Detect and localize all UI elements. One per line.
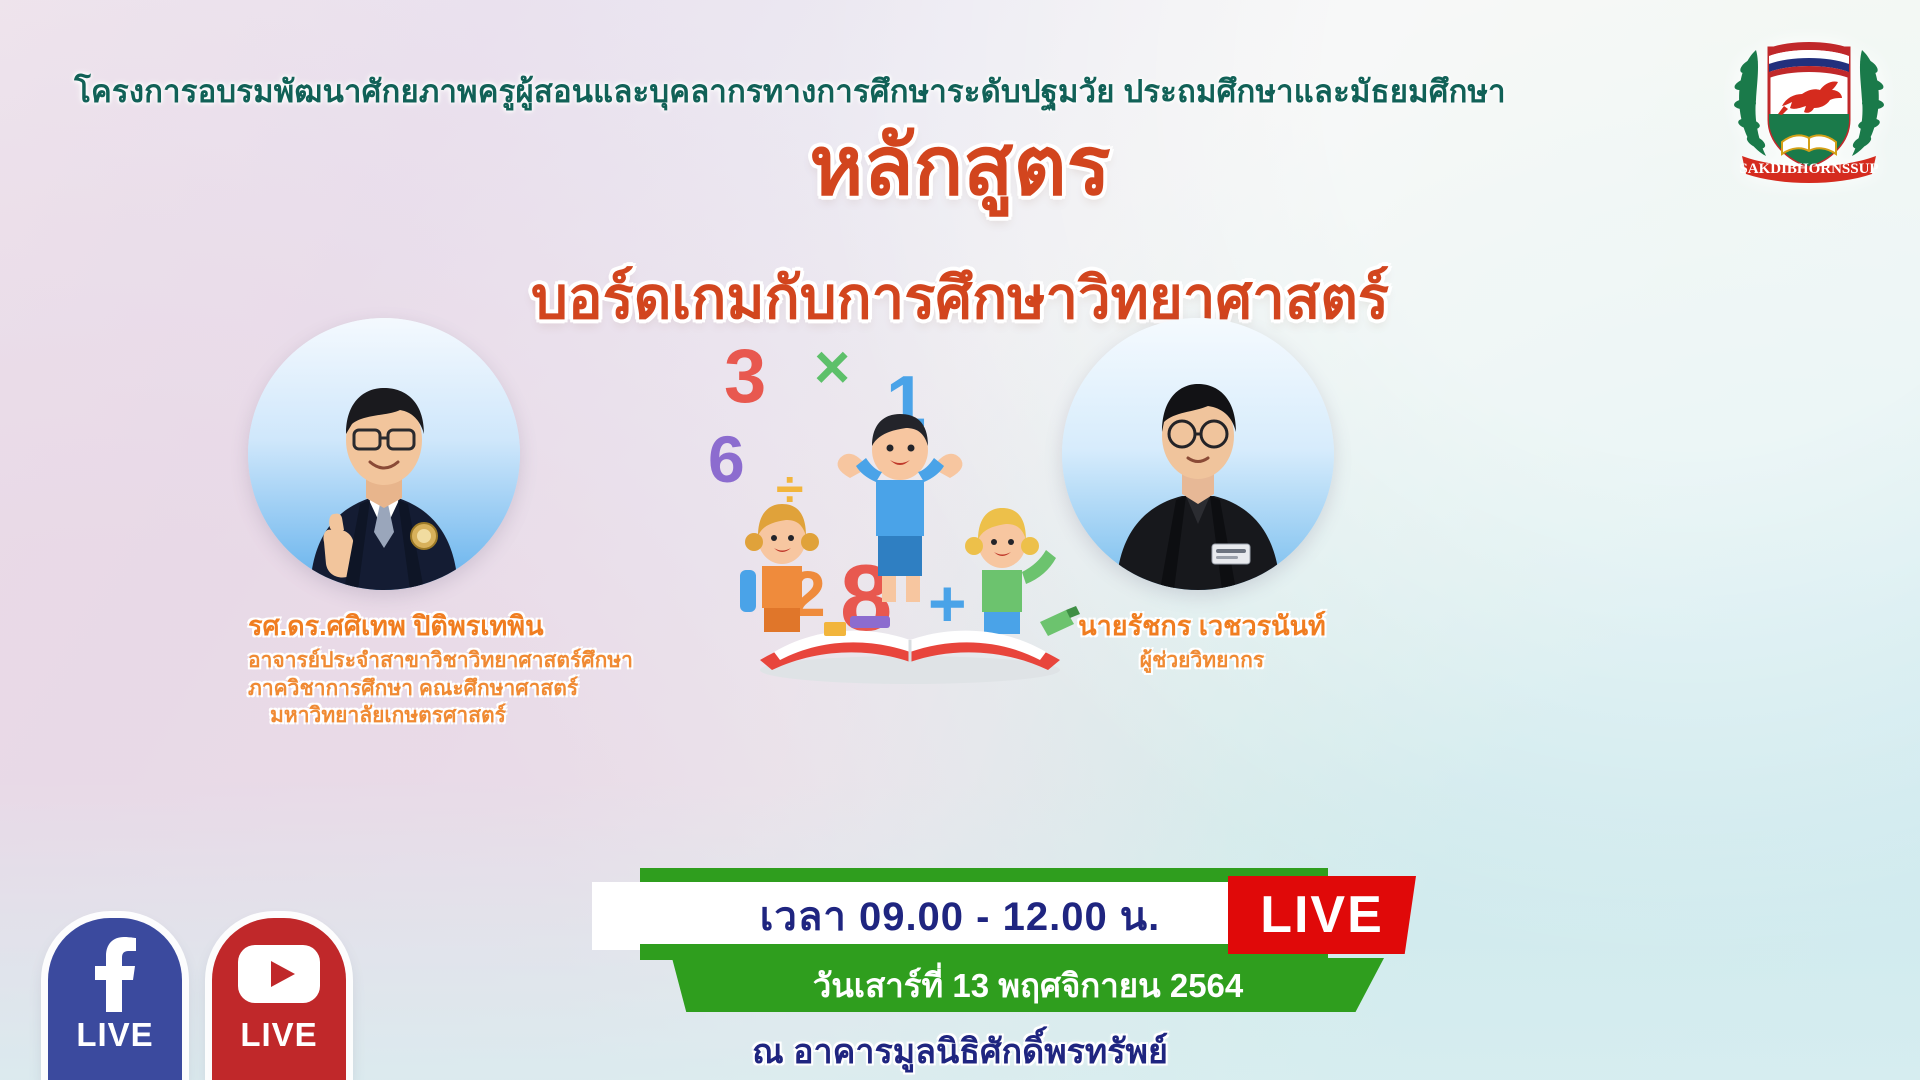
- live-badge-label: LIVE: [1260, 889, 1384, 941]
- date-banner: วันเสาร์ที่ 13 พฤศจิกายน 2564: [672, 958, 1384, 1012]
- speaker-affiliation-left-2: ภาควิชาการศึกษา คณะศึกษาศาสตร์: [248, 675, 528, 703]
- green-accent-bar-mid: [640, 944, 1328, 960]
- facebook-icon: [88, 936, 142, 1012]
- page-title: หลักสูตร: [0, 126, 1920, 208]
- youtube-live-button[interactable]: LIVE: [212, 918, 346, 1080]
- speaker-photo-left: [248, 318, 520, 590]
- speaker-affiliation-left-3: มหาวิทยาลัยเกษตรศาสตร์: [248, 702, 528, 730]
- illustration-number-3: 3: [724, 334, 766, 419]
- time-text: เวลา 09.00 - 12.00 น.: [760, 884, 1161, 948]
- illustration-kid-right: [965, 508, 1056, 634]
- illustration-symbol-plus: +: [928, 566, 967, 640]
- math-kids-illustration: 3 × 1 6 ÷ 2 8 +: [700, 330, 1120, 690]
- poster-canvas: โครงการอบรมพัฒนาศักยภาพครูผู้สอนและบุคลา…: [0, 0, 1920, 1080]
- illustration-number-6: 6: [708, 422, 745, 496]
- speaker-name-left: รศ.ดร.ศศิเทพ ปิติพรเทพิน: [248, 604, 528, 647]
- facebook-live-button[interactable]: LIVE: [48, 918, 182, 1080]
- speaker-card-left: รศ.ดร.ศศิเทพ ปิติพรเทพิน อาจารย์ประจำสาข…: [248, 318, 528, 730]
- illustration-symbol-times: ×: [814, 333, 850, 402]
- youtube-icon: [237, 936, 321, 1012]
- sakdibhornssup-logo-icon: SAKDIBHORNSSUP: [1720, 14, 1898, 186]
- program-header-text: โครงการอบรมพัฒนาศักยภาพครูผู้สอนและบุคลา…: [0, 66, 1580, 116]
- crest-ribbon-text: SAKDIBHORNSSUP: [1739, 161, 1878, 177]
- time-banner: เวลา 09.00 - 12.00 น.: [592, 882, 1328, 950]
- speaker-affiliation-left-1: อาจารย์ประจำสาขาวิชาวิทยาศาสตร์ศึกษา: [248, 647, 528, 675]
- youtube-live-label: LIVE: [240, 1016, 317, 1054]
- live-badge: LIVE: [1228, 876, 1416, 954]
- facebook-live-label: LIVE: [76, 1016, 153, 1054]
- date-text: วันเสาร์ที่ 13 พฤศจิกายน 2564: [813, 959, 1244, 1012]
